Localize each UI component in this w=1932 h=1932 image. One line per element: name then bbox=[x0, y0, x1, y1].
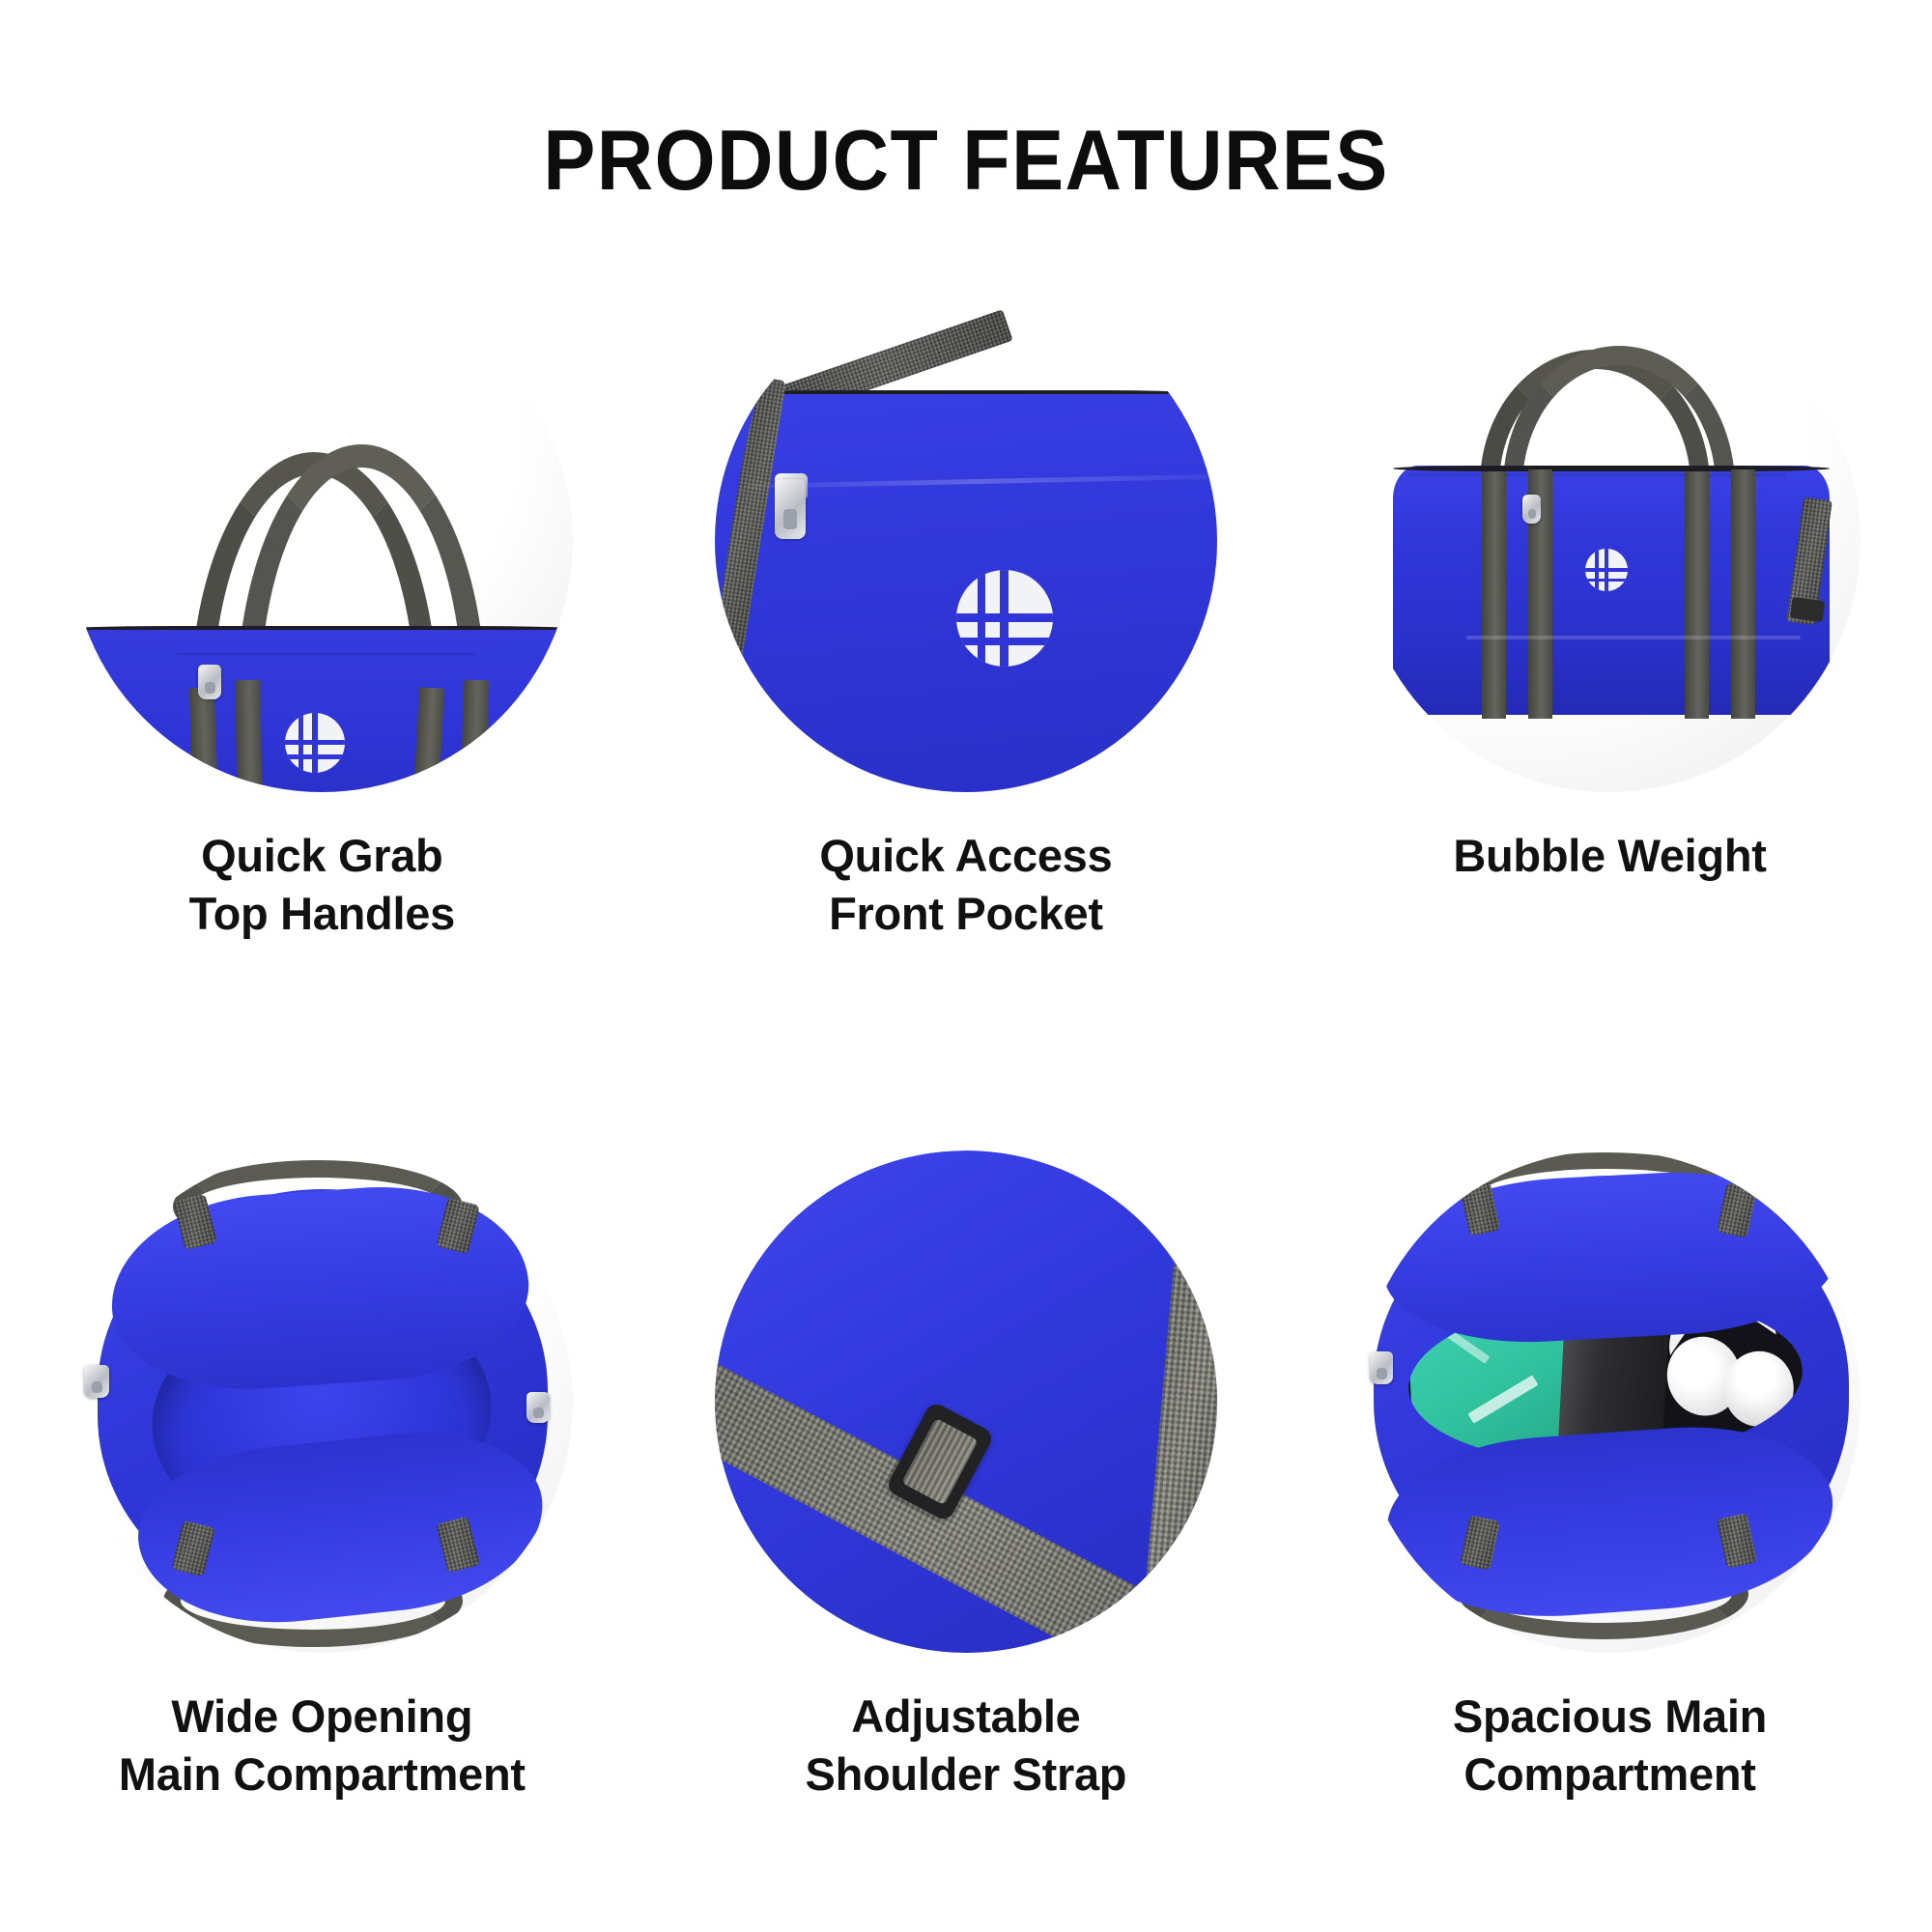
bag-scene-wide-opening bbox=[71, 1151, 573, 1653]
zipper-pull-icon bbox=[1522, 495, 1541, 524]
front-pocket-seam bbox=[1466, 636, 1801, 639]
zipper-pull-icon bbox=[198, 665, 221, 699]
zipper-pull-hole bbox=[533, 1407, 544, 1418]
feature-image-bubble-weight bbox=[1358, 290, 1861, 792]
handle-strap-anchor-2 bbox=[236, 680, 264, 792]
zipper-pull-icon bbox=[1370, 1351, 1393, 1384]
bag-scene-front-pocket bbox=[715, 290, 1217, 792]
feature-card-bubble-weight[interactable]: Bubble Weight bbox=[1288, 290, 1932, 943]
page-title: PRODUCT FEATURES bbox=[77, 118, 1855, 203]
zipper-pull-hole bbox=[205, 682, 215, 694]
feature-caption: Quick Grab Top Handles bbox=[189, 827, 455, 943]
feature-grid: Quick Grab Top Handles bbox=[0, 290, 1932, 1804]
feature-image-quick-access-front-pocket bbox=[715, 290, 1217, 792]
zipper-pull-hole bbox=[1528, 509, 1536, 519]
handle-strap-anchor-4 bbox=[1731, 469, 1755, 719]
handle-strap-anchor-3 bbox=[1685, 471, 1709, 719]
feature-caption: Bubble Weight bbox=[1453, 827, 1766, 885]
feature-image-adjustable-shoulder-strap bbox=[715, 1151, 1217, 1653]
feature-row-top: Quick Grab Top Handles bbox=[0, 290, 1932, 943]
adjuster-buckle bbox=[1790, 597, 1826, 623]
zipper-track bbox=[177, 653, 476, 656]
handle-strap-anchor-1 bbox=[1482, 471, 1506, 719]
feature-row-bottom: Wide Opening Main Compartment Adjustable… bbox=[0, 1151, 1932, 1804]
bag-scene-packed-compartment bbox=[1358, 1151, 1861, 1653]
zipper-pull-left-icon bbox=[84, 1365, 109, 1398]
zipper-pull-hole bbox=[92, 1381, 102, 1393]
circle-hash-logo-icon bbox=[956, 570, 1053, 667]
zipper-pull-hole bbox=[1377, 1368, 1387, 1379]
product-features-infographic: PRODUCT FEATURES bbox=[0, 0, 1932, 1932]
feature-caption: Spacious Main Compartment bbox=[1453, 1688, 1767, 1804]
feature-image-spacious-main-compartment bbox=[1358, 1151, 1861, 1653]
feature-card-quick-access-front-pocket[interactable]: Quick Access Front Pocket bbox=[644, 290, 1289, 943]
bag-scene-top-handles bbox=[71, 290, 573, 792]
feature-caption: Adjustable Shoulder Strap bbox=[806, 1688, 1127, 1804]
feature-card-quick-grab-top-handles[interactable]: Quick Grab Top Handles bbox=[0, 290, 644, 943]
feature-caption: Quick Access Front Pocket bbox=[819, 827, 1112, 943]
bag-scene-full-duffel bbox=[1358, 290, 1861, 792]
feature-image-quick-grab-top-handles bbox=[71, 290, 573, 792]
zipper-pull-hole bbox=[783, 509, 797, 529]
garment-print-mark bbox=[1468, 1376, 1539, 1424]
zipper-pull-right-icon bbox=[526, 1392, 550, 1423]
bag-scene-shoulder-strap bbox=[715, 1151, 1217, 1653]
circle-hash-logo-icon bbox=[285, 713, 345, 773]
feature-caption: Wide Opening Main Compartment bbox=[119, 1688, 526, 1804]
feature-card-wide-opening-main-compartment[interactable]: Wide Opening Main Compartment bbox=[0, 1151, 644, 1804]
feature-card-adjustable-shoulder-strap[interactable]: Adjustable Shoulder Strap bbox=[644, 1151, 1289, 1804]
zipper-pull-icon bbox=[775, 479, 806, 539]
feature-card-spacious-main-compartment[interactable]: Spacious Main Compartment bbox=[1288, 1151, 1932, 1804]
zipper-track bbox=[1408, 473, 1785, 477]
feature-image-wide-opening bbox=[71, 1151, 573, 1653]
